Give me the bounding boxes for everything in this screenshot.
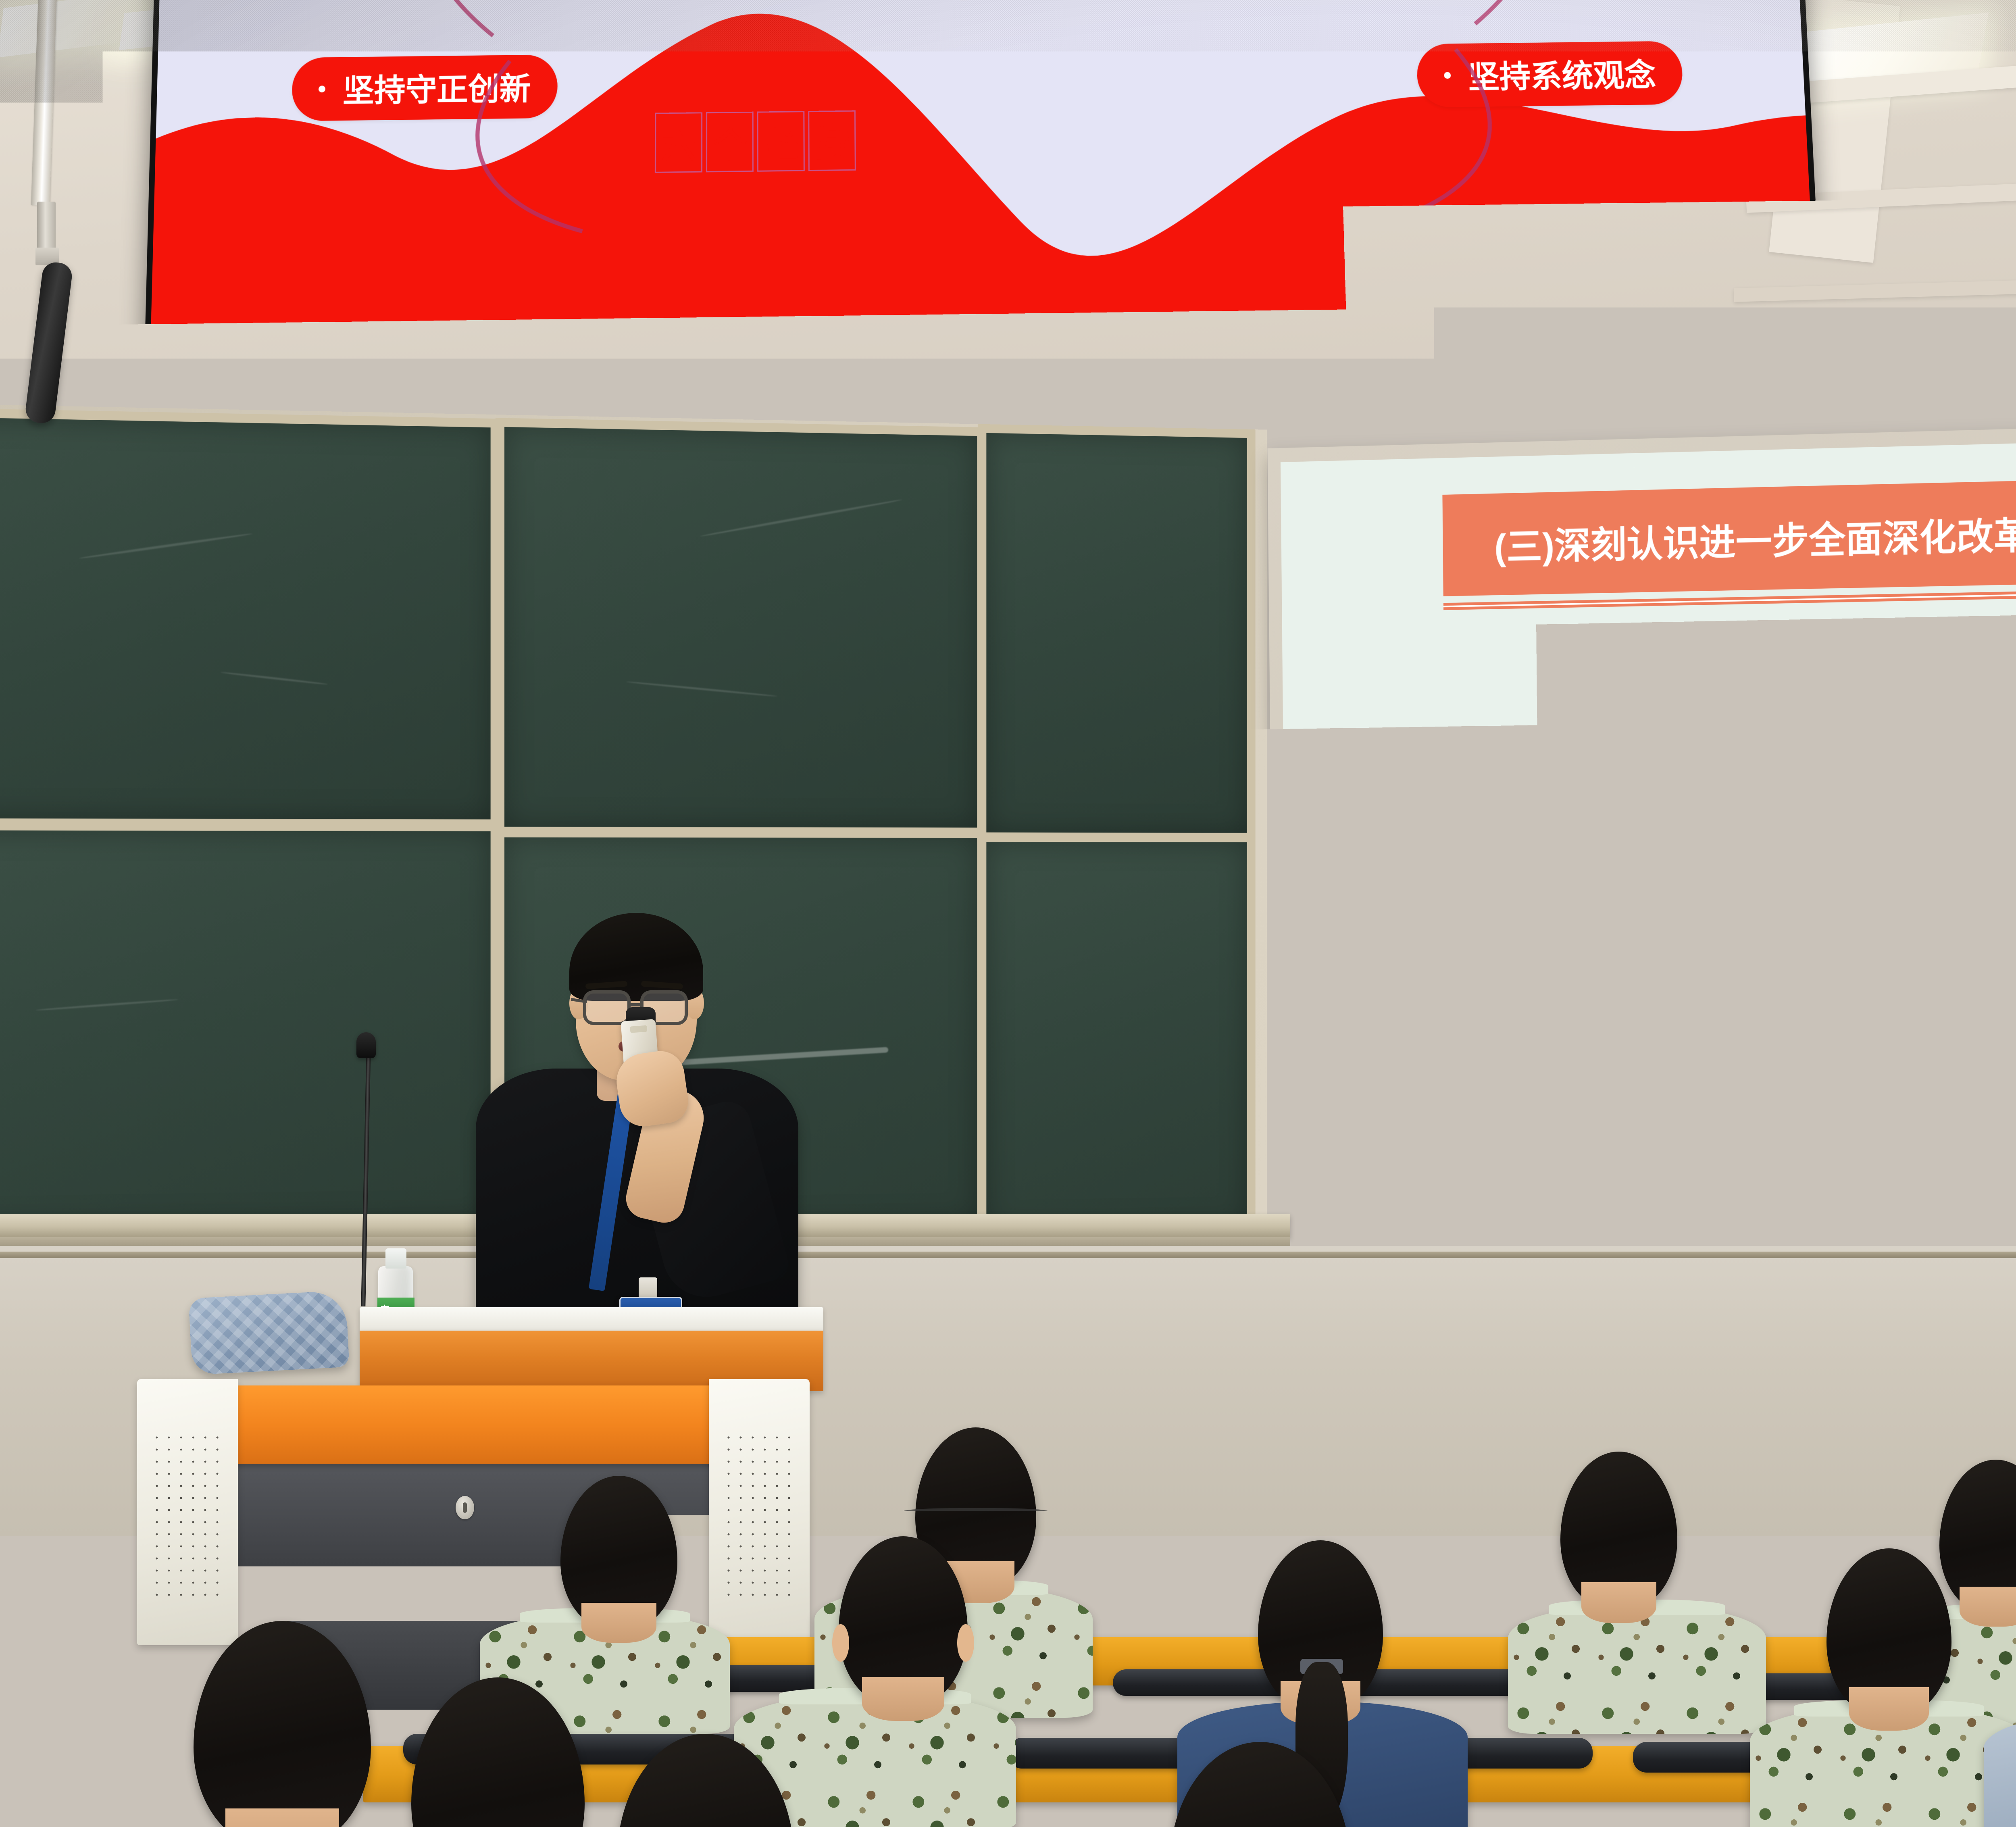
neck (1849, 1687, 1929, 1731)
cursor-arrow-icon (1524, 807, 1543, 831)
no-writing-icon (1314, 1246, 1329, 1262)
tv-screen: (三)深刻认识进一步全面深化改革的重大原则 “六个坚持”是我们行之有效的成功密码… (148, 0, 1821, 439)
projected-slide: (三)深刻认识进一步全面深化改革的重大原则 “六个坚持”是我们行之有效的成功密码… (1281, 425, 2016, 1279)
speaker-grille (723, 1431, 795, 1601)
hair (411, 1677, 585, 1827)
zoom-icon: ⌕ (239, 399, 244, 408)
next-slide-button[interactable]: ▶ (176, 394, 194, 413)
student-head (1560, 1452, 1677, 1609)
warning-line-2: 请勿写字 (1331, 1254, 1360, 1262)
lecture-hall-scene: (三)深刻认识进一步全面深化改革的重大原则 “六个坚持”是我们行之有效的成功密码… (0, 0, 2016, 1827)
projection-screen-surface: (三)深刻认识进一步全面深化改革的重大原则 “六个坚持”是我们行之有效的成功密码… (1281, 425, 2016, 1279)
pen-tool-button[interactable]: ╱ (195, 394, 213, 413)
calligraphy-cell: 六 (655, 112, 702, 173)
calligraphy-char: 持 (1883, 1039, 1918, 1090)
calligraphy-cell: 持 (808, 110, 856, 171)
blackboard-panel (978, 833, 1256, 1238)
tv-cpc-hammer-sickle-emblem (749, 0, 1212, 90)
pen-icon: ╱ (201, 399, 207, 408)
all-slides-button[interactable]: ▤ (214, 394, 232, 413)
hair (194, 1621, 371, 1827)
student-head-front (194, 1621, 371, 1827)
lectern-speaker-right (709, 1379, 810, 1645)
bottle-cap (385, 1248, 406, 1269)
blackboard-panel (496, 418, 986, 836)
calligraphy-char: 六 (661, 117, 696, 168)
presenter: inCe (476, 899, 798, 1327)
student-head-front (1169, 1742, 1351, 1827)
student-head (1258, 1540, 1383, 1710)
next-slide-icon: ▶ (181, 400, 189, 409)
calligraphy-cell: 坚 (1826, 1034, 1874, 1094)
projection-warning-label: ⚠ 警告/WARNING 投影板 请勿写字 (1310, 1224, 1387, 1271)
calligraphy-cell: 个 (706, 112, 754, 173)
calligraphy-char: 六 (1732, 1040, 1766, 1090)
warning-label-header: ⚠ 警告/WARNING (1311, 1225, 1385, 1240)
neck (1960, 1587, 2016, 1627)
calligraphy-char: 坚 (1833, 1039, 1868, 1090)
calligraphy-cell: 六 (1726, 1035, 1773, 1095)
blackboard-panel (0, 408, 500, 828)
neck (581, 1603, 656, 1643)
eyeglasses-lens (583, 990, 631, 1025)
ear (957, 1624, 974, 1661)
hair (1169, 1742, 1351, 1827)
zoom-icon: ⌕ (1399, 1240, 1404, 1249)
warning-label-text: 投影板 请勿写字 (1331, 1246, 1361, 1263)
eyeglasses (903, 1508, 1048, 1516)
slide-calligraphy-grid: 六 个 坚 持 (1726, 1034, 1925, 1094)
student-head (560, 1476, 677, 1629)
more-icon: ⋯ (1415, 1240, 1423, 1249)
calligraphy-char: 坚 (764, 116, 798, 167)
cpc-hammer-sickle-emblem (1802, 648, 2016, 1018)
student-head (839, 1536, 968, 1706)
calligraphy-cell: 持 (1877, 1034, 1924, 1094)
student-head-front (411, 1677, 585, 1827)
tv-slideshow-control-bar[interactable]: ◀ ▶ ╱ ▤ ⌕ ⋯ (157, 394, 270, 414)
lectern-speaker-left (137, 1379, 238, 1645)
projection-screen-board: (三)深刻认识进一步全面深化改革的重大原则 “六个坚持”是我们行之有效的成功密码… (1267, 410, 2016, 1318)
neck (1581, 1582, 1656, 1623)
calligraphy-char: 个 (1783, 1040, 1817, 1090)
previous-slide-button[interactable]: ◀ (157, 395, 175, 414)
student-head (1826, 1548, 1951, 1716)
eyeglasses-bridge (631, 1003, 644, 1006)
hanging-microphone-joint (37, 202, 56, 250)
more-options-button[interactable]: ⋯ (252, 394, 270, 412)
previous-slide-icon: ◀ (162, 400, 170, 409)
zoom-button[interactable]: ⌕ (1393, 1235, 1410, 1254)
tv-slide-mirror: (三)深刻认识进一步全面深化改革的重大原则 “六个坚持”是我们行之有效的成功密码… (148, 0, 1821, 439)
grid-icon: ▤ (219, 399, 227, 408)
hair (617, 1734, 794, 1827)
blackboard-panel (0, 821, 500, 1237)
ear (832, 1624, 849, 1661)
zoom-button[interactable]: ⌕ (233, 394, 251, 413)
more-icon: ⋯ (256, 398, 266, 408)
lectern-lock[interactable] (456, 1496, 474, 1519)
student-head-front (617, 1734, 794, 1827)
speaker-grille (151, 1431, 223, 1601)
blackboard-panel (978, 424, 1256, 842)
hair (1665, 1694, 1855, 1827)
calligraphy-cell: 个 (1776, 1034, 1823, 1094)
calligraphy-char: 个 (712, 117, 747, 167)
calligraphy-char: 持 (815, 115, 850, 166)
tv-projected-slide: (三)深刻认识进一步全面深化改革的重大原则 “六个坚持”是我们行之有效的成功密码… (148, 0, 1821, 439)
calligraphy-cell: 坚 (757, 111, 805, 172)
warning-line-1: 投影板 (1331, 1246, 1360, 1254)
tv-slide-calligraphy-grid: 六 个 坚 持 (655, 110, 856, 173)
lectern-desktop (214, 1385, 722, 1466)
neck (225, 1808, 339, 1827)
neck (862, 1677, 945, 1721)
gooseneck-microphone (356, 1032, 376, 1058)
wall-mounted-tv: (三)深刻认识进一步全面深化改革的重大原则 “六个坚持”是我们行之有效的成功密码… (142, 0, 1827, 444)
student-head-front (1665, 1694, 1855, 1827)
more-options-button[interactable]: ⋯ (1410, 1235, 1427, 1254)
lectern-top-shelf (360, 1307, 823, 1332)
